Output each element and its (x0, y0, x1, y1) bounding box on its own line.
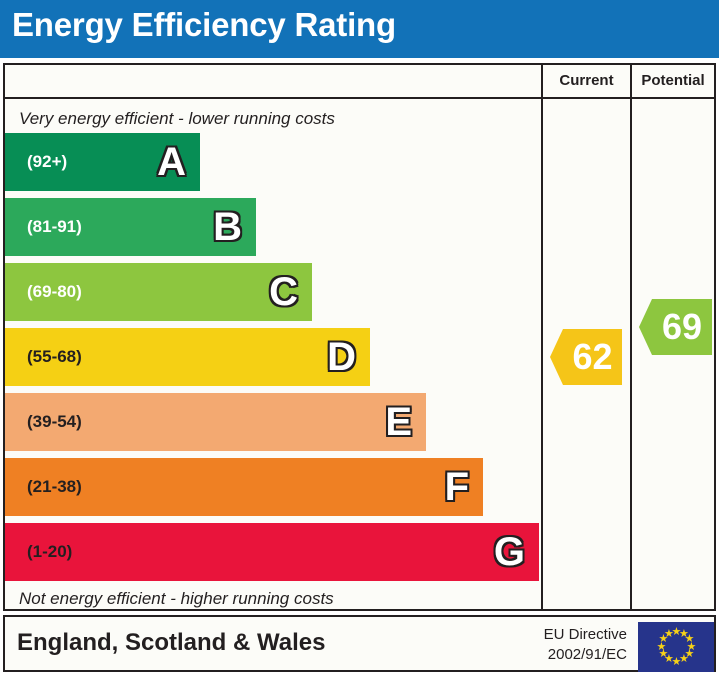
band-range-g: (1-20) (27, 542, 72, 562)
band-b: (81-91)B (5, 198, 256, 256)
band-range-c: (69-80) (27, 282, 82, 302)
caption-inefficient: Not energy efficient - higher running co… (19, 589, 334, 609)
page-title: Energy Efficiency Rating (12, 6, 396, 44)
band-range-a: (92+) (27, 152, 67, 172)
band-range-e: (39-54) (27, 412, 82, 432)
energy-efficiency-certificate: Energy Efficiency Rating Current Potenti… (0, 0, 719, 675)
band-g: (1-20)G (5, 523, 539, 581)
band-letter-c: C (269, 272, 298, 312)
band-letter-a: A (157, 142, 186, 182)
band-f: (21-38)F (5, 458, 483, 516)
band-letter-e: E (385, 402, 412, 442)
band-letter-f: F (445, 467, 469, 507)
current-rating-value: 62 (563, 339, 622, 375)
band-range-b: (81-91) (27, 217, 82, 237)
directive-line-1: EU Directive (521, 625, 627, 645)
band-list: (92+)A(81-91)B(69-80)C(55-68)D(39-54)E(2… (5, 133, 539, 583)
band-letter-b: B (213, 207, 242, 247)
column-header-potential: Potential (632, 72, 714, 89)
potential-rating-arrow: 69 (639, 299, 712, 355)
band-c: (69-80)C (5, 263, 312, 321)
band-e: (39-54)E (5, 393, 426, 451)
band-d: (55-68)D (5, 328, 370, 386)
column-header-current: Current (543, 72, 630, 89)
rating-table: Current Potential Very energy efficient … (3, 63, 716, 611)
footer-bar: England, Scotland & Wales EU Directive 2… (3, 615, 716, 672)
footer-directive-label: EU Directive 2002/91/EC (521, 625, 627, 665)
eu-flag-icon: ★★★★★★★★★★★★ (638, 622, 714, 672)
column-divider-potential (630, 65, 632, 609)
footer-region-label: England, Scotland & Wales (17, 629, 325, 657)
eu-flag-star: ★ (664, 630, 673, 639)
column-divider-current (541, 65, 543, 609)
title-bar: Energy Efficiency Rating (0, 0, 719, 58)
potential-rating-value: 69 (652, 309, 712, 345)
band-letter-g: G (494, 532, 525, 572)
current-rating-arrow: 62 (550, 329, 622, 385)
band-range-f: (21-38) (27, 477, 82, 497)
caption-efficient: Very energy efficient - lower running co… (19, 109, 335, 129)
directive-line-2: 2002/91/EC (521, 645, 627, 665)
band-range-d: (55-68) (27, 347, 82, 367)
band-a: (92+)A (5, 133, 200, 191)
band-letter-d: D (327, 337, 356, 377)
